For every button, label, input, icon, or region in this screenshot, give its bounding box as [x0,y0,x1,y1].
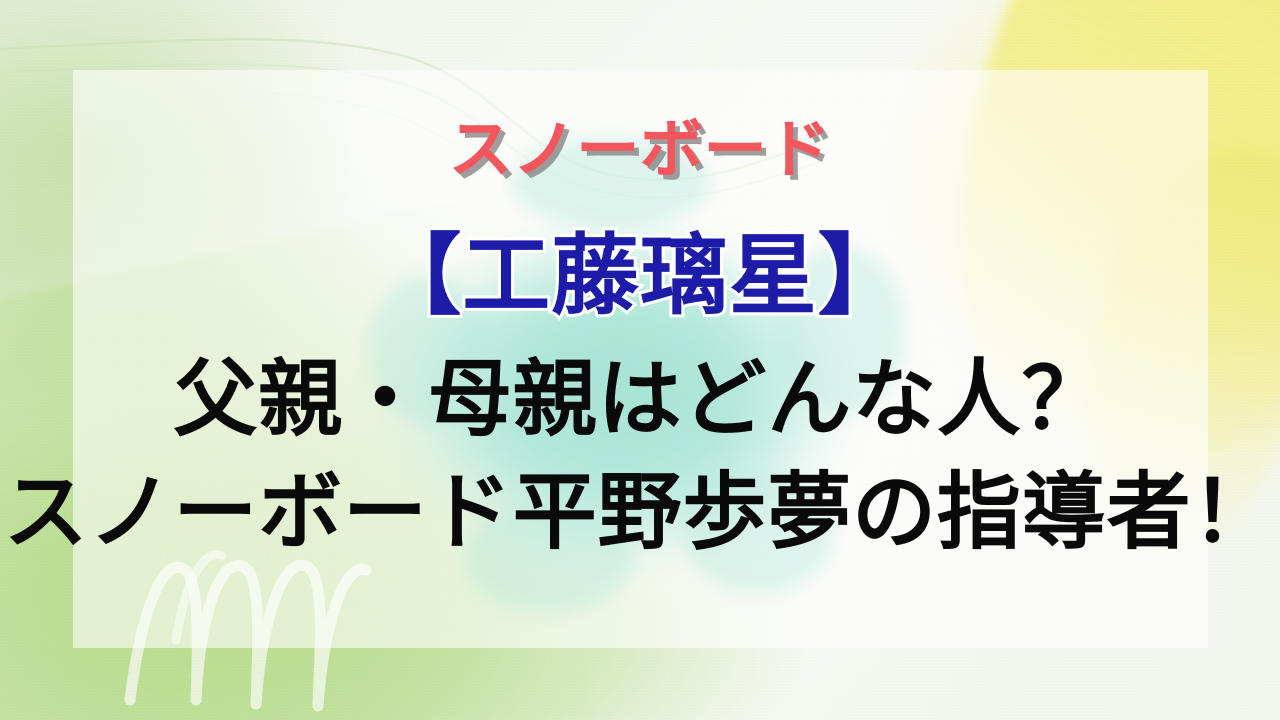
white-squiggle-strokes [0,0,1280,720]
thumbnail-canvas: スノーボード 【工藤璃星】 父親・母親はどんな人？ スノーボード平野歩夢の指導者… [0,0,1280,720]
